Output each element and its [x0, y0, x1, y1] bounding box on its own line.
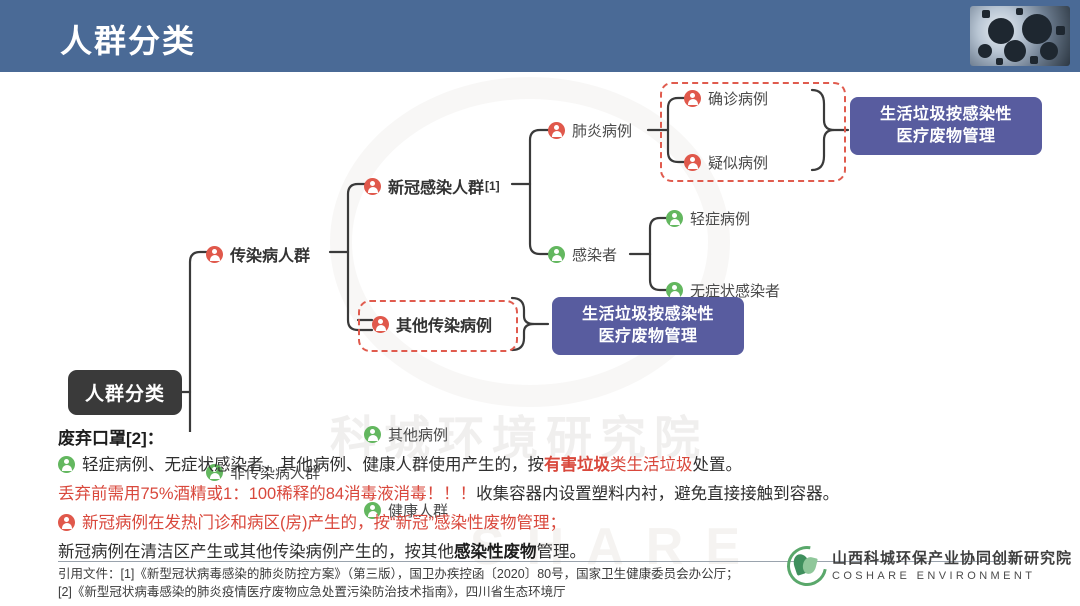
citation-line-2: [2]《新型冠状病毒感染的肺炎疫情医疗废物应急处置污染防治技术指南》，四川省生态… [58, 583, 739, 601]
person-icon-red [206, 246, 223, 263]
logo-name-en: COSHARE ENVIRONMENT [832, 570, 1072, 582]
leaf-logo-icon [785, 544, 825, 584]
badge-top[interactable]: 生活垃圾按感染性 医疗废物管理 [850, 97, 1042, 155]
notes-line-3: 新冠病例在发热门诊和病区(房)产生的，按“新冠”感染性废物管理； [58, 510, 1048, 536]
slide-body: 科城环境研究院 SHARE [0, 72, 1080, 606]
node-infected-person[interactable]: 感染者 [548, 244, 617, 265]
notes-line-2: 丢弃前需用75%酒精或1：100稀释的84消毒液消毒！！！收集容器内设置塑料内衬… [58, 481, 1048, 507]
badge-bottom-line1: 生活垃圾按感染性 [566, 304, 730, 326]
citation-line-1: 引用文件：[1]《新型冠状病毒感染的肺炎防控方案》（第三版），国卫办疾控函〔20… [58, 565, 739, 583]
page-title: 人群分类 [60, 16, 196, 62]
slide-header: 人群分类 [0, 0, 1080, 72]
person-icon-green [548, 246, 565, 263]
person-icon-red [548, 122, 565, 139]
node-mild-case[interactable]: 轻症病例 [666, 208, 750, 229]
node-other-infectious-case[interactable]: 其他传染病例 [372, 312, 492, 336]
node-suspected-case[interactable]: 疑似病例 [684, 152, 768, 173]
footnote-marker-1: [1] [485, 179, 500, 193]
root-node[interactable]: 人群分类 [68, 370, 182, 415]
organization-logo: 山西科城环保产业协同创新研究院 COSHARE ENVIRONMENT [785, 544, 1072, 584]
notes-line-1: 轻症病例、无症状感染者、其他病例、健康人群使用产生的，按有害垃圾类生活垃圾处置。 [58, 452, 1048, 478]
node-confirmed-case[interactable]: 确诊病例 [684, 88, 768, 109]
mindmap-diagram: 人群分类 传染病人群 新冠感染人群 [1] 肺炎病例 确诊病例 疑似病例 [0, 72, 1080, 432]
badge-top-line1: 生活垃圾按感染性 [864, 104, 1028, 126]
hazardous-waste-highlight: 有害垃圾 [544, 452, 610, 478]
person-icon-red [684, 90, 701, 107]
node-covid-crowd[interactable]: 新冠感染人群 [1] [364, 174, 500, 198]
person-icon-red [372, 316, 389, 333]
person-icon-green [58, 456, 75, 473]
person-icon-red [364, 178, 381, 195]
notes-title: 废弃口罩[2]： [58, 424, 1048, 449]
coronavirus-image [970, 6, 1070, 66]
node-pneumonia-case[interactable]: 肺炎病例 [548, 120, 632, 141]
badge-top-line2: 医疗废物管理 [864, 126, 1028, 148]
logo-name-cn: 山西科城环保产业协同创新研究院 [832, 547, 1072, 568]
person-icon-green [666, 210, 683, 227]
citations: 引用文件：[1]《新型冠状病毒感染的肺炎防控方案》（第三版），国卫办疾控函〔20… [58, 565, 739, 601]
person-icon-red [58, 514, 75, 531]
badge-bottom-line2: 医疗废物管理 [566, 326, 730, 348]
node-infectious-crowd[interactable]: 传染病人群 [206, 242, 310, 266]
badge-bottom[interactable]: 生活垃圾按感染性 医疗废物管理 [552, 297, 744, 355]
person-icon-red [684, 154, 701, 171]
